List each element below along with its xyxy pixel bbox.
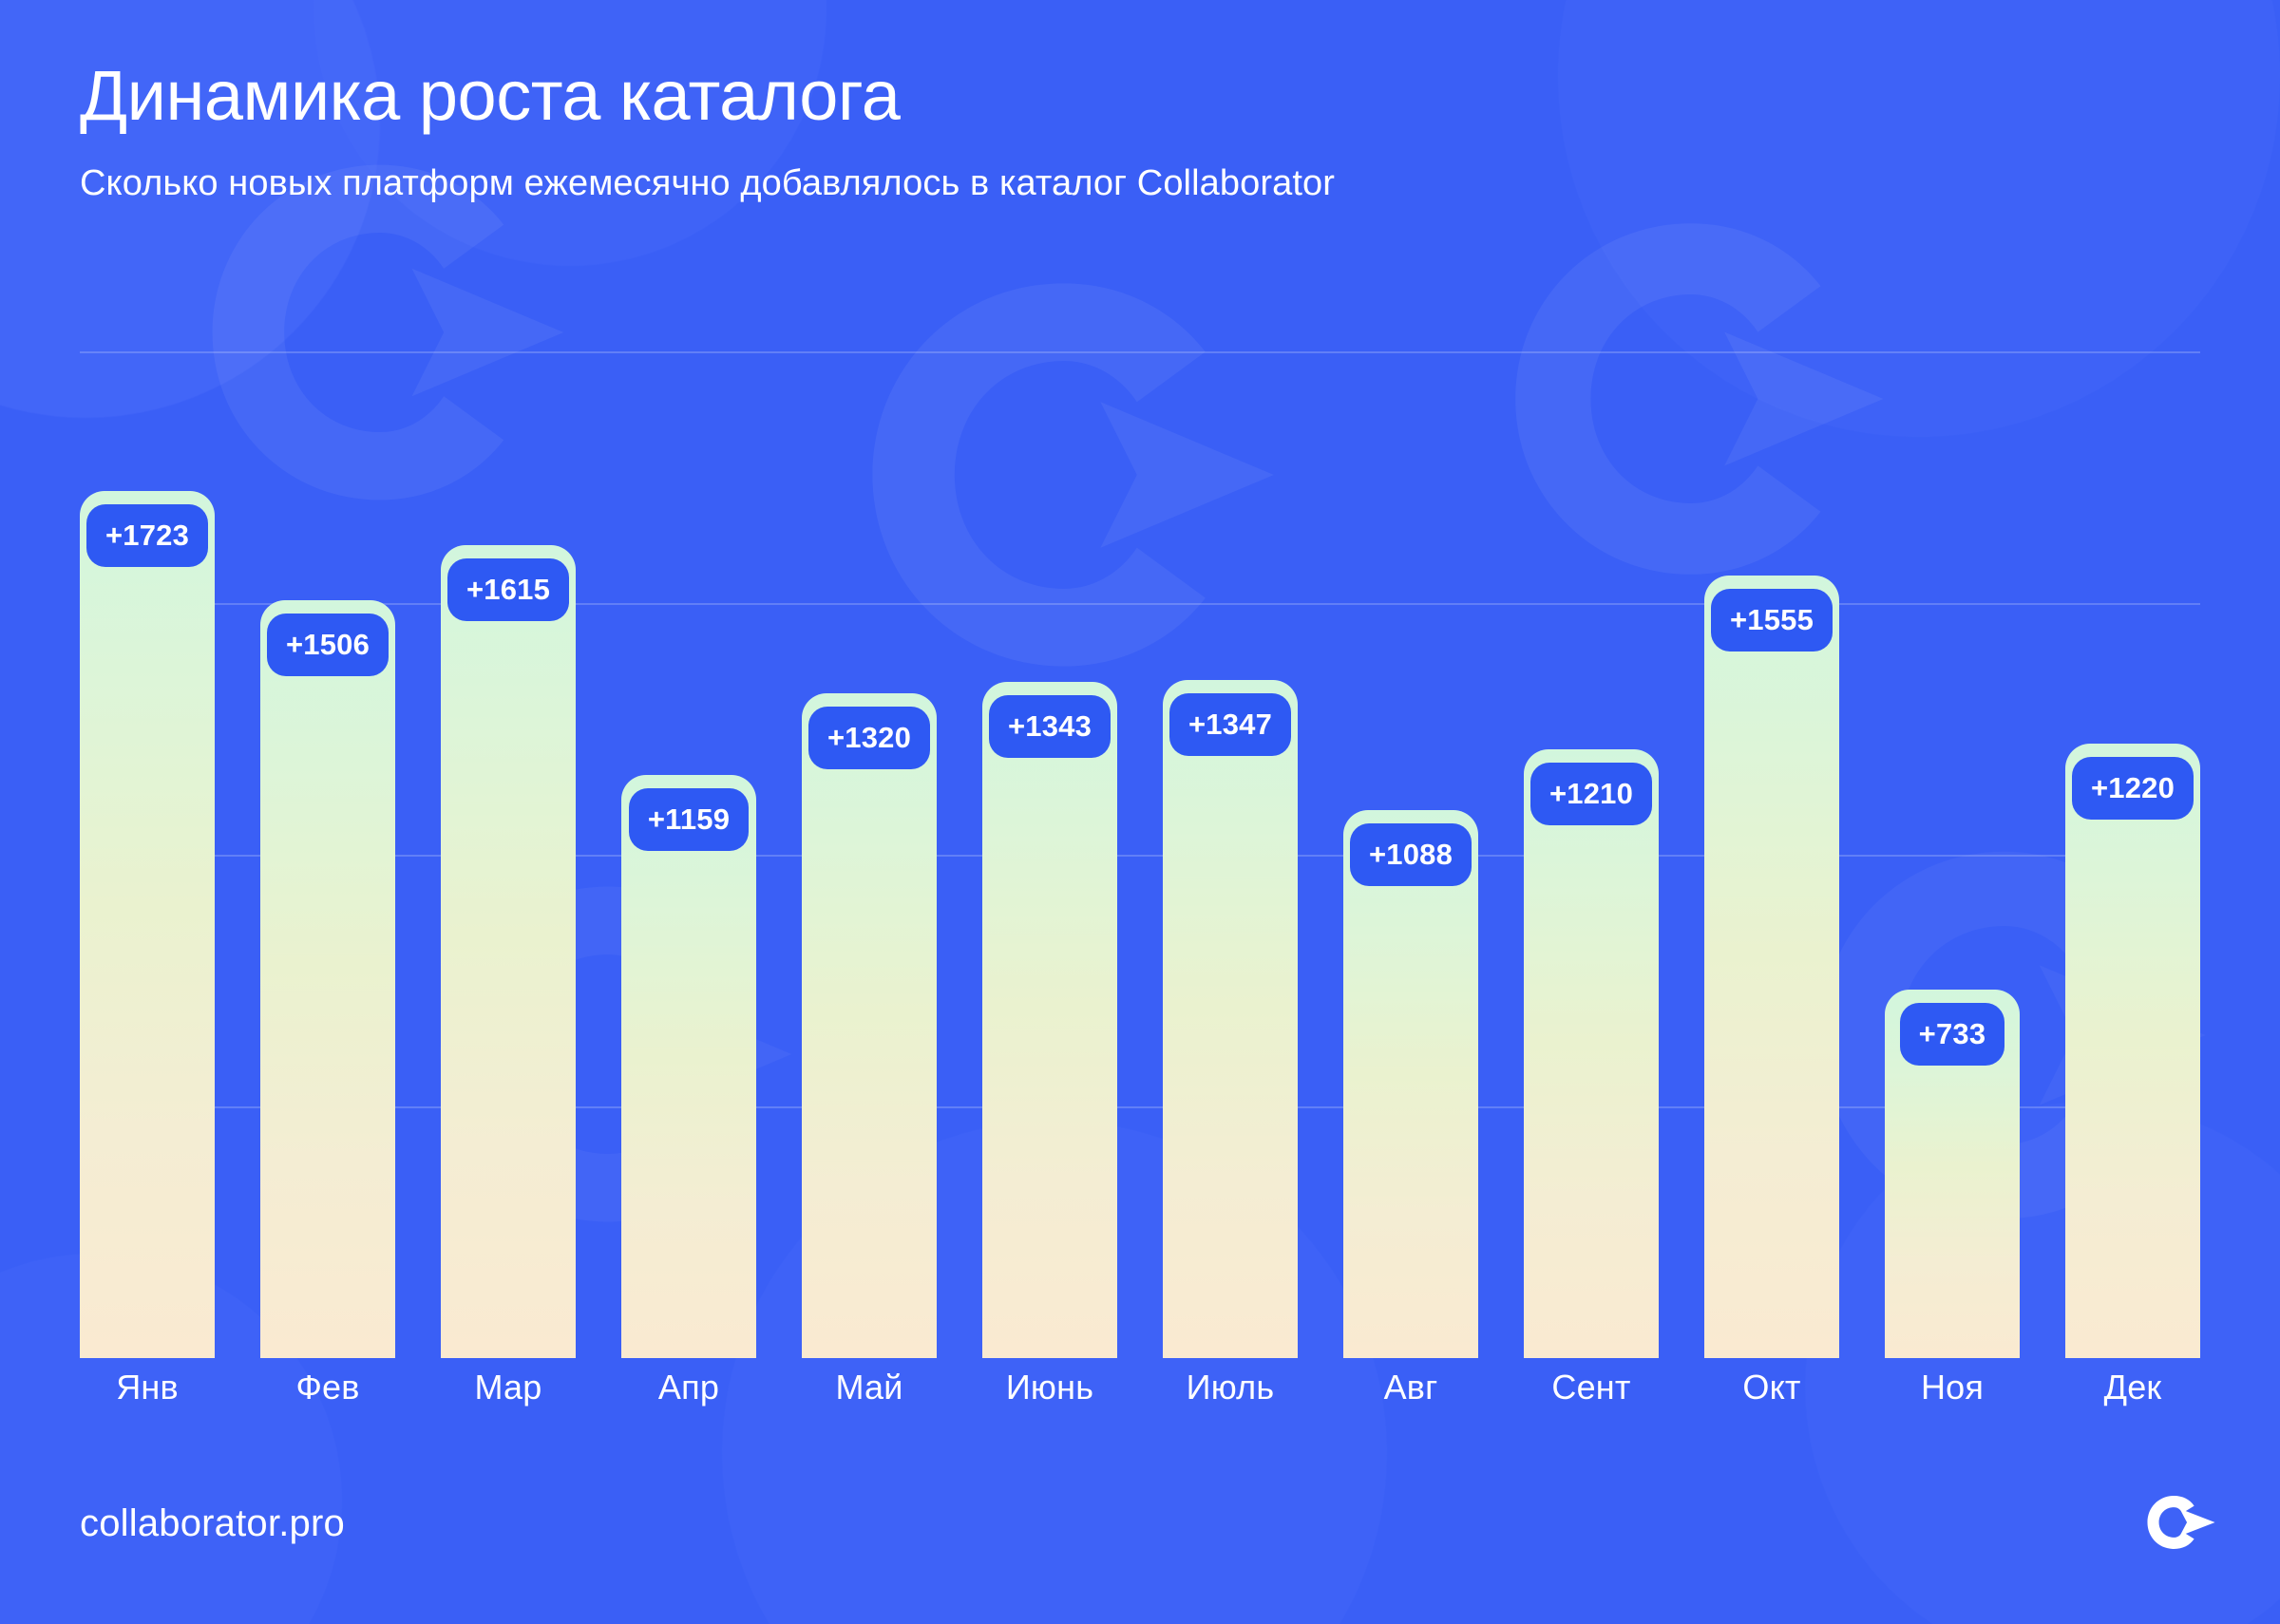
bar-value-badge: +1210 xyxy=(1530,763,1652,825)
chart-bar[interactable]: +1210 xyxy=(1524,749,1659,1358)
bar-value-badge: +1615 xyxy=(447,558,569,621)
bar-value-badge: +1088 xyxy=(1350,823,1472,886)
chart-bar[interactable]: +1320 xyxy=(802,693,937,1358)
bar-value-badge: +733 xyxy=(1900,1003,2005,1066)
bar-value-badge: +1506 xyxy=(267,614,389,676)
collaborator-logo-icon xyxy=(2145,1493,2217,1552)
x-axis-label: Авг xyxy=(1343,1368,1478,1407)
bar-value-badge: +1220 xyxy=(2072,757,2194,820)
x-axis-label: Дек xyxy=(2065,1368,2200,1407)
chart-bar[interactable]: +733 xyxy=(1885,990,2020,1358)
bar-slot: +1220 xyxy=(2065,351,2200,1358)
bar-slot: +1347 xyxy=(1163,351,1298,1358)
infographic-poster: Динамика роста каталога Сколько новых пл… xyxy=(0,0,2280,1624)
bar-value-badge: +1159 xyxy=(629,788,749,851)
bar-slot: +1159 xyxy=(621,351,756,1358)
chart-bars: +1723+1506+1615+1159+1320+1343+1347+1088… xyxy=(80,351,2200,1358)
x-axis-label: Июнь xyxy=(982,1368,1117,1407)
bar-slot: +1343 xyxy=(982,351,1117,1358)
x-axis-label: Мар xyxy=(441,1368,576,1407)
x-axis-label: Сент xyxy=(1524,1368,1659,1407)
site-url[interactable]: collaborator.pro xyxy=(80,1502,345,1545)
bar-slot: +1723 xyxy=(80,351,215,1358)
bar-slot: +1615 xyxy=(441,351,576,1358)
bar-slot: +1210 xyxy=(1524,351,1659,1358)
x-axis-label: Окт xyxy=(1704,1368,1839,1407)
x-axis-label: Май xyxy=(802,1368,937,1407)
x-axis-label: Ноя xyxy=(1885,1368,2020,1407)
page-title: Динамика роста каталога xyxy=(80,59,2170,133)
bar-value-badge: +1555 xyxy=(1711,589,1833,651)
bar-slot: +733 xyxy=(1885,351,2020,1358)
chart-bar[interactable]: +1723 xyxy=(80,491,215,1358)
bar-value-badge: +1343 xyxy=(989,695,1111,758)
chart-x-axis: ЯнвФевМарАпрМайИюньИюльАвгСентОктНояДек xyxy=(80,1368,2200,1407)
bar-value-badge: +1320 xyxy=(808,707,930,769)
x-axis-label: Фев xyxy=(260,1368,395,1407)
bar-chart: +1723+1506+1615+1159+1320+1343+1347+1088… xyxy=(80,351,2200,1358)
chart-bar[interactable]: +1347 xyxy=(1163,680,1298,1358)
chart-bar[interactable]: +1555 xyxy=(1704,576,1839,1358)
page-subtitle: Сколько новых платформ ежемесячно добавл… xyxy=(80,161,2170,207)
bar-value-badge: +1347 xyxy=(1169,693,1291,756)
bar-value-badge: +1723 xyxy=(86,504,208,567)
chart-bar[interactable]: +1506 xyxy=(260,600,395,1358)
bar-slot: +1555 xyxy=(1704,351,1839,1358)
bar-slot: +1506 xyxy=(260,351,395,1358)
bar-slot: +1088 xyxy=(1343,351,1478,1358)
x-axis-label: Июль xyxy=(1163,1368,1298,1407)
chart-bar[interactable]: +1159 xyxy=(621,775,756,1358)
poster-header: Динамика роста каталога Сколько новых пл… xyxy=(80,59,2170,207)
poster-footer: collaborator.pro xyxy=(0,1463,2280,1624)
chart-bar[interactable]: +1088 xyxy=(1343,810,1478,1358)
x-axis-label: Янв xyxy=(80,1368,215,1407)
bar-slot: +1320 xyxy=(802,351,937,1358)
chart-bar[interactable]: +1220 xyxy=(2065,744,2200,1358)
x-axis-label: Апр xyxy=(621,1368,756,1407)
chart-bar[interactable]: +1615 xyxy=(441,545,576,1358)
chart-bar[interactable]: +1343 xyxy=(982,682,1117,1358)
